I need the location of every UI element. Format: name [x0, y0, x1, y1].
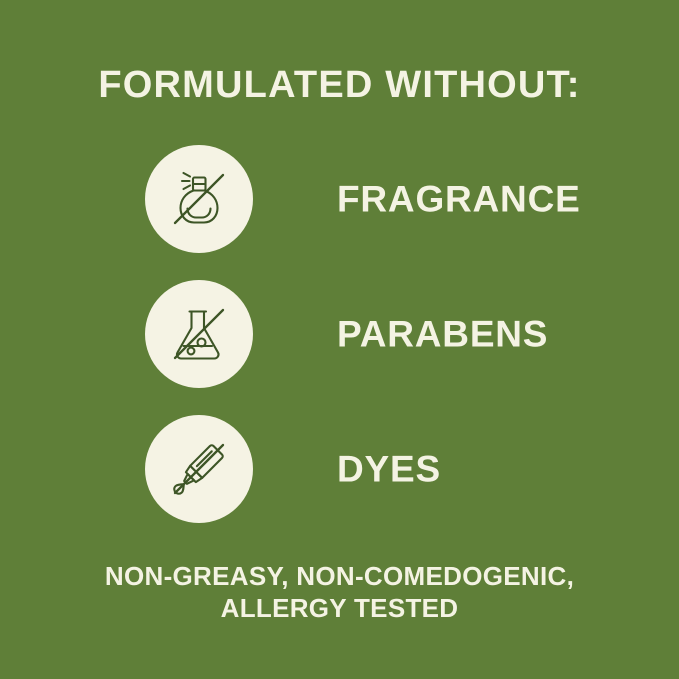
- formulated-without-poster: FORMULATED WITHOUT:: [0, 0, 679, 679]
- footer-claims: NON-GREASY, NON-COMEDOGENIC, ALLERGY TES…: [0, 560, 679, 624]
- list-item-parabens: PARABENS: [0, 280, 679, 388]
- badge-fragrance: [145, 145, 253, 253]
- footer-line-2: ALLERGY TESTED: [0, 592, 679, 624]
- footer-line-1: NON-GREASY, NON-COMEDOGENIC,: [0, 560, 679, 592]
- claims-list: FRAGRANCE: [0, 145, 679, 550]
- list-item-label: PARABENS: [337, 316, 548, 353]
- no-dropper-pipette-icon: [162, 432, 236, 506]
- badge-dyes: [145, 415, 253, 523]
- list-item-label: FRAGRANCE: [337, 181, 581, 218]
- list-item-fragrance: FRAGRANCE: [0, 145, 679, 253]
- no-fragrance-bottle-icon: [162, 162, 236, 236]
- page-title: FORMULATED WITHOUT:: [0, 66, 679, 104]
- badge-parabens: [145, 280, 253, 388]
- list-item-label: DYES: [337, 451, 441, 488]
- no-chemistry-flask-icon: [162, 297, 236, 371]
- list-item-dyes: DYES: [0, 415, 679, 523]
